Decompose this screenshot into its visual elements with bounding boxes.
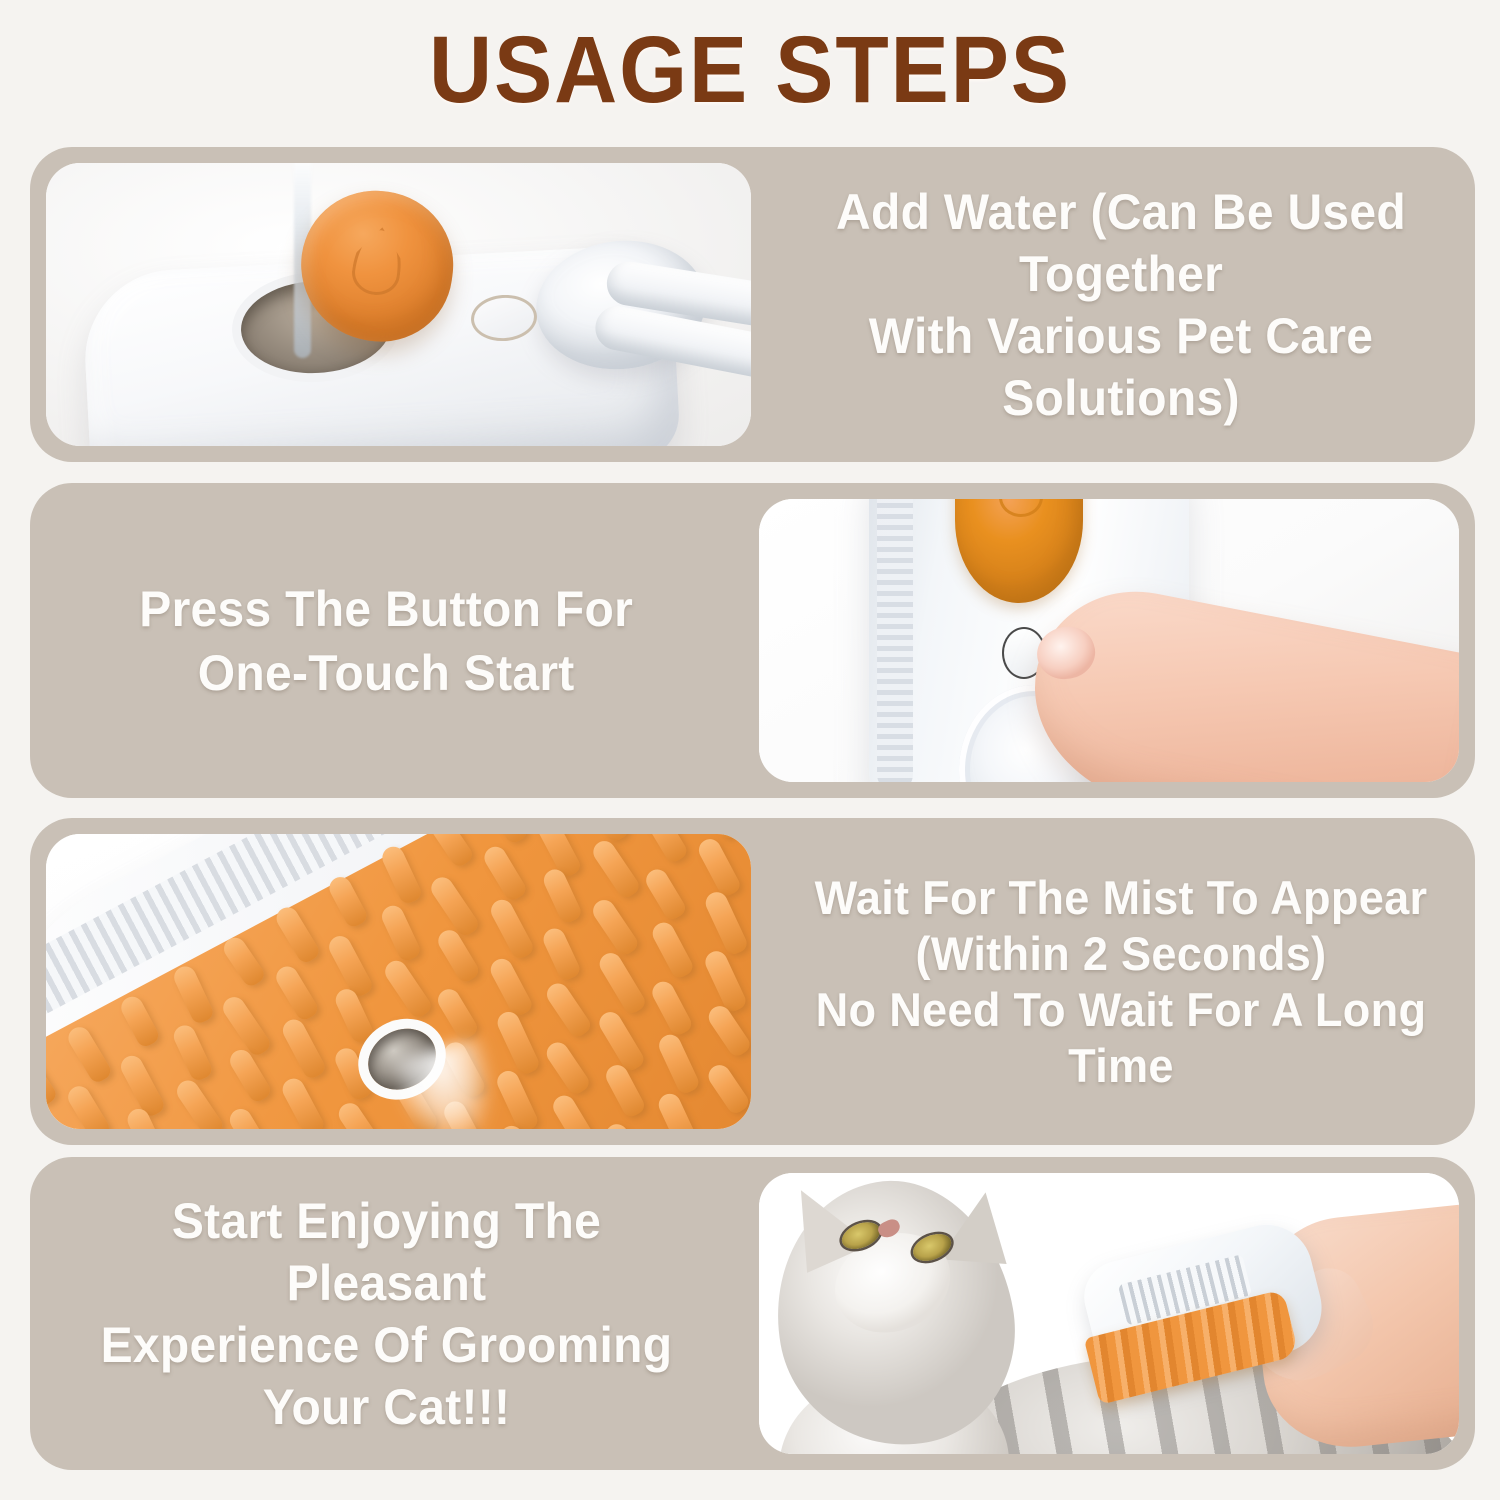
cat-being-groomed-photo [759,1173,1459,1454]
brush-head-illustration [46,834,751,1129]
cat-ear-right [939,1189,1012,1264]
caption-line: (Within 2 Seconds) [806,926,1436,982]
page-title: USAGE STEPS [60,18,1440,123]
water-fill-illustration [46,163,751,446]
caption-line: One-Touch Start [140,641,634,705]
caption-line: Start Enjoying The Pleasant [69,1190,704,1314]
device-water-fill-photo [46,163,751,446]
step-panel-wait-for-mist: Wait For The Mist To Appear (Within 2 Se… [30,818,1475,1145]
brush-head-shell [46,834,751,1129]
step-panel-enjoy-grooming: Start Enjoying The Pleasant Experience O… [30,1157,1475,1470]
finger-pressing-button-photo [759,499,1459,782]
step-caption-press-button: Press The Button For One-Touch Start [30,483,743,798]
usage-steps-infographic: USAGE STEPS Add Water (Can Be Used Toget… [0,0,1500,1500]
caption-line: Add Water (Can Be Used Together [806,181,1436,305]
caption-line: Experience Of Grooming [69,1314,704,1376]
button-press-illustration [759,499,1459,782]
step-caption-add-water: Add Water (Can Be Used Together With Var… [767,147,1475,462]
cat-grooming-illustration [759,1173,1459,1454]
caption-line: Press The Button For [140,577,634,641]
brush-head-steam-nozzle-photo [46,834,751,1129]
pointing-finger [1015,574,1459,782]
step-caption-enjoy-grooming: Start Enjoying The Pleasant Experience O… [30,1157,743,1470]
caption-line: With Various Pet Care Solutions) [806,305,1436,429]
device-grip-ridges [877,499,913,782]
caption-line: Your Cat!!! [69,1376,704,1438]
step-caption-wait-for-mist: Wait For The Mist To Appear (Within 2 Se… [767,818,1475,1145]
step-panel-press-button: Press The Button For One-Touch Start [30,483,1475,798]
caption-line: No Need To Wait For A Long Time [806,982,1436,1094]
caption-line: Wait For The Mist To Appear [806,870,1436,926]
step-panel-add-water: Add Water (Can Be Used Together With Var… [30,147,1475,462]
